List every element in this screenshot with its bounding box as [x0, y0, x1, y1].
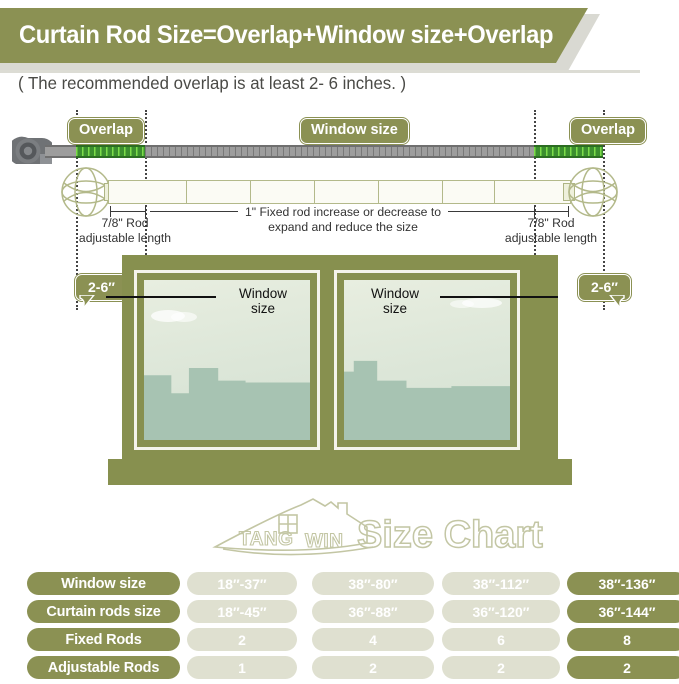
window-dim-line-left — [106, 296, 216, 298]
table-cell-text: 2 — [238, 632, 246, 648]
table-cell-text: 36″-144″ — [598, 604, 655, 620]
dim-label-left: 7/8" Rod adjustable length — [60, 216, 190, 247]
header-banner-plate: Curtain Rod Size=Overlap+Window size+Ove… — [0, 8, 600, 63]
table-cell-text: 8 — [623, 632, 631, 648]
header-banner: Curtain Rod Size=Overlap+Window size+Ove… — [0, 8, 612, 65]
callout-overlap-left-label: Overlap — [79, 122, 133, 138]
table-cell: 6 — [442, 628, 560, 651]
window-dim-label-right-line1: Window — [350, 286, 440, 301]
table-cell: 2 — [312, 656, 434, 679]
cloud-left — [150, 306, 204, 324]
rod-bar — [108, 180, 571, 204]
table-cell: 4 — [312, 628, 434, 651]
window-dim-label-left: Window size — [218, 286, 308, 316]
tape-strip-window — [145, 145, 534, 158]
table-row-label-text: Fixed Rods — [65, 632, 141, 648]
table-cell: 36″-120″ — [442, 600, 560, 623]
table-row-label-text: Adjustable Rods — [48, 660, 159, 676]
fixed-rod-note-line2: expand and reduce the size — [243, 220, 443, 235]
overlap-badge-left-label: 2-6″ — [88, 279, 115, 295]
table-cell-highlighted: 38″-136″ — [567, 572, 679, 595]
table-row-label: Adjustable Rods — [27, 656, 180, 679]
table-cell-highlighted: 2 — [567, 656, 679, 679]
table-cell: 36″-88″ — [312, 600, 434, 623]
dim-line-right — [534, 211, 569, 212]
svg-text:Size Chart: Size Chart — [357, 514, 543, 556]
table-row-label-text: Window size — [61, 576, 146, 592]
dim-line-center — [150, 211, 238, 212]
table-cell-highlighted: 36″-144″ — [567, 600, 679, 623]
table-cell-highlighted: 8 — [567, 628, 679, 651]
tape-ticks-left — [76, 147, 145, 156]
callout-window-size: Window size — [300, 118, 409, 144]
table-cell-text: 2 — [623, 660, 631, 676]
table-cell-text: 38″-136″ — [598, 576, 655, 592]
dim-line-left — [110, 211, 146, 212]
table-cell-text: 18″-45″ — [217, 604, 266, 620]
table-cell: 2 — [442, 656, 560, 679]
rod-seam — [314, 181, 315, 203]
table-cell-text: 2 — [497, 660, 505, 676]
table-row: Adjustable Rods 1 2 2 2 — [27, 656, 652, 679]
table-row: Curtain rods size 18″-45″ 36″-88″ 36″-12… — [27, 600, 652, 623]
overlap-badge-right-tail — [608, 295, 626, 311]
svg-text:TANG: TANG — [239, 529, 293, 550]
callout-overlap-right: Overlap — [570, 118, 646, 144]
svg-text:WIN: WIN — [305, 531, 343, 552]
window-illustration: Window size Window size — [122, 255, 558, 485]
dim-line-center-right — [448, 211, 534, 212]
rod-seam — [494, 181, 495, 203]
table-cell-text: 1 — [238, 660, 246, 676]
skyline-silhouette-right — [344, 341, 510, 440]
table-row-label: Fixed Rods — [27, 628, 180, 651]
window-dim-label-right: Window size — [350, 286, 440, 316]
rod-diagram: Overlap Window size Overlap — [0, 110, 679, 255]
rod-seam — [442, 181, 443, 203]
tape-ticks-window — [145, 147, 534, 156]
table-cell: 38″-112″ — [442, 572, 560, 595]
dim-label-left-line1: 7/8" Rod — [60, 216, 190, 231]
window-dim-label-right-line2: size — [350, 301, 440, 316]
table-cell-text: 38″-80″ — [348, 576, 397, 592]
tape-ticks-right — [534, 147, 603, 156]
rod-finial-right — [567, 166, 619, 218]
table-row-label: Curtain rods size — [27, 600, 180, 623]
table-cell-text: 6 — [497, 632, 505, 648]
rod-seam — [186, 181, 187, 203]
callout-overlap-left: Overlap — [68, 118, 144, 144]
table-cell: 18″-45″ — [187, 600, 297, 623]
dim-label-right-line2: adjustable length — [486, 231, 616, 246]
header-subtitle: ( The recommended overlap is at least 2-… — [18, 73, 632, 94]
tape-overlap-right — [534, 145, 603, 158]
table-row-label-text: Curtain rods size — [46, 604, 160, 620]
fixed-rod-note: 1" Fixed rod increase or decrease to exp… — [243, 205, 443, 236]
table-cell-text: 18″-37″ — [217, 576, 266, 592]
window-dim-label-left-line1: Window — [218, 286, 308, 301]
table-row-label: Window size — [27, 572, 180, 595]
table-row: Window size 18″-37″ 38″-80″ 38″-112″ 38″… — [27, 572, 652, 595]
brand-logo: TANG WIN Size Chart TANG WIN Size Chart — [205, 497, 545, 559]
table-cell-text: 36″-120″ — [472, 604, 529, 620]
table-cell-text: 4 — [369, 632, 377, 648]
table-cell: 2 — [187, 628, 297, 651]
dim-label-left-line2: adjustable length — [60, 231, 190, 246]
size-chart-table: Window size 18″-37″ 38″-80″ 38″-112″ 38″… — [27, 572, 652, 676]
table-cell: 1 — [187, 656, 297, 679]
page-title: Curtain Rod Size=Overlap+Window size+Ove… — [0, 21, 553, 50]
window-sill — [108, 459, 572, 485]
table-row: Fixed Rods 2 4 6 8 — [27, 628, 652, 651]
table-cell: 38″-80″ — [312, 572, 434, 595]
rod-seam — [250, 181, 251, 203]
overlap-badge-right-label: 2-6″ — [591, 279, 618, 295]
tape-overlap-left — [76, 145, 145, 158]
dim-label-right: 7/8" Rod adjustable length — [486, 216, 616, 247]
fixed-rod-note-line1: 1" Fixed rod increase or decrease to — [243, 205, 443, 220]
window-dim-line-right — [440, 296, 558, 298]
skyline-silhouette-left — [144, 341, 310, 440]
table-cell: 18″-37″ — [187, 572, 297, 595]
rod-seam — [378, 181, 379, 203]
window-dim-label-left-line2: size — [218, 301, 308, 316]
callout-overlap-right-label: Overlap — [581, 122, 635, 138]
dim-label-right-line1: 7/8" Rod — [486, 216, 616, 231]
overlap-badge-left-tail — [78, 295, 96, 311]
table-cell-text: 38″-112″ — [473, 576, 529, 592]
table-cell-text: 36″-88″ — [348, 604, 397, 620]
tape-strip-head — [45, 145, 76, 158]
table-cell-text: 2 — [369, 660, 377, 676]
callout-window-size-label: Window size — [311, 122, 398, 138]
